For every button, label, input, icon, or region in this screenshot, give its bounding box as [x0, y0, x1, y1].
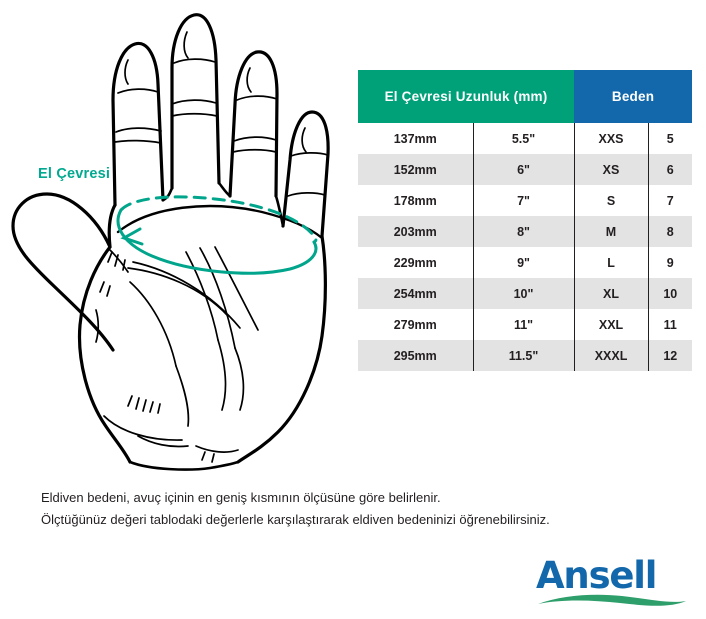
table-row: 178mm7"S7 [358, 185, 692, 216]
cell-size-number: 6 [648, 154, 692, 185]
cell-circumference-mm: 279mm [358, 309, 473, 340]
cell-size-letter: XXXL [574, 340, 648, 371]
cell-size-number: 11 [648, 309, 692, 340]
cell-circumference-inch: 8" [473, 216, 574, 247]
hand-drawing-svg [0, 0, 350, 480]
header-hand-circumference: El Çevresi Uzunluk (mm) [358, 70, 574, 123]
footnote-line-2: Ölçtüğünüz değeri tablodaki değerlerle k… [41, 509, 661, 531]
cell-circumference-inch: 6" [473, 154, 574, 185]
cell-circumference-mm: 254mm [358, 278, 473, 309]
ansell-wordmark: Ansell [536, 556, 688, 596]
cell-circumference-mm: 152mm [358, 154, 473, 185]
cell-size-letter: S [574, 185, 648, 216]
cell-size-number: 10 [648, 278, 692, 309]
table-row: 203mm8"M8 [358, 216, 692, 247]
cell-size-letter: L [574, 247, 648, 278]
table-row: 137mm5.5"XXS5 [358, 123, 692, 154]
cell-circumference-mm: 203mm [358, 216, 473, 247]
cell-size-number: 9 [648, 247, 692, 278]
cell-circumference-inch: 5.5" [473, 123, 574, 154]
cell-size-letter: XL [574, 278, 648, 309]
table-header: El Çevresi Uzunluk (mm) Beden [358, 70, 692, 123]
cell-size-letter: XXS [574, 123, 648, 154]
cell-circumference-inch: 11.5" [473, 340, 574, 371]
cell-circumference-mm: 137mm [358, 123, 473, 154]
footnote-line-1: Eldiven bedeni, avuç içinin en geniş kıs… [41, 487, 661, 509]
cell-size-letter: XXL [574, 309, 648, 340]
cell-circumference-mm: 229mm [358, 247, 473, 278]
table-row: 229mm9"L9 [358, 247, 692, 278]
footnote: Eldiven bedeni, avuç içinin en geniş kıs… [41, 487, 661, 531]
table-body: 137mm5.5"XXS5152mm6"XS6178mm7"S7203mm8"M… [358, 123, 692, 371]
hand-circumference-label: El Çevresi [38, 166, 110, 182]
hand-illustration: El Çevresi [0, 0, 350, 480]
cell-circumference-mm: 178mm [358, 185, 473, 216]
header-size: Beden [574, 70, 692, 123]
cell-size-letter: XS [574, 154, 648, 185]
cell-circumference-mm: 295mm [358, 340, 473, 371]
cell-circumference-inch: 11" [473, 309, 574, 340]
cell-size-number: 8 [648, 216, 692, 247]
cell-circumference-inch: 10" [473, 278, 574, 309]
glove-size-table: El Çevresi Uzunluk (mm) Beden 137mm5.5"X… [358, 70, 692, 371]
cell-circumference-inch: 7" [473, 185, 574, 216]
cell-circumference-inch: 9" [473, 247, 574, 278]
cell-size-letter: M [574, 216, 648, 247]
table-row: 152mm6"XS6 [358, 154, 692, 185]
table-row: 279mm11"XXL11 [358, 309, 692, 340]
cell-size-number: 5 [648, 123, 692, 154]
cell-size-number: 7 [648, 185, 692, 216]
table-row: 254mm10"XL10 [358, 278, 692, 309]
ansell-logo: Ansell [536, 556, 688, 608]
cell-size-number: 12 [648, 340, 692, 371]
table-row: 295mm11.5"XXXL12 [358, 340, 692, 371]
